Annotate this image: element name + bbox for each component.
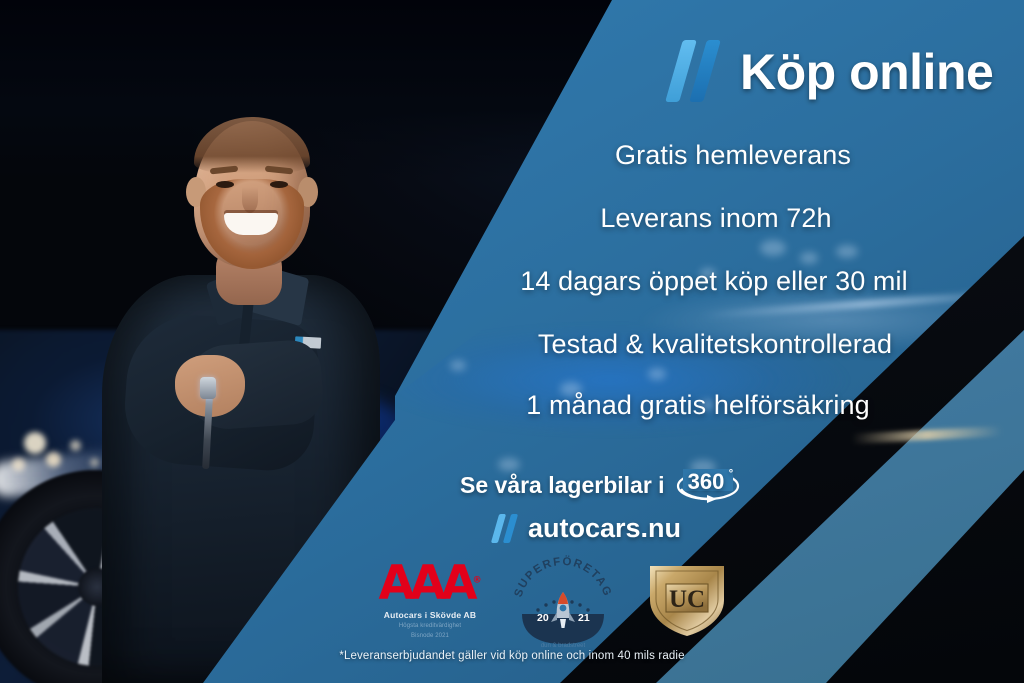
- aaa-company-name: Autocars i Skövde AB: [360, 610, 500, 620]
- page-title: Köp online: [740, 43, 993, 101]
- registered-trademark-icon: ®: [473, 575, 482, 585]
- benefit-item: 14 dagars öppet köp eller 30 mil: [438, 266, 990, 297]
- disclaimer-text: *Leveranserbjudandet gäller vid köp onli…: [0, 650, 1024, 662]
- benefit-item: Testad & kvalitetskontrollerad: [440, 329, 990, 360]
- slash-bar-dark: [503, 514, 518, 543]
- cta-line-2[interactable]: autocars.nu: [494, 513, 760, 544]
- double-slash-icon-small: [494, 514, 522, 544]
- benefit-item: 1 månad gratis helförsäkring: [406, 390, 990, 421]
- aaa-subtitle-line-2: Bisnode 2021: [360, 632, 500, 640]
- cta-text: Se våra lagerbilar i: [460, 472, 665, 499]
- svg-text:dun & bradstreet: dun & bradstreet: [541, 643, 586, 648]
- cta-line-1: Se våra lagerbilar i 360 °: [460, 465, 760, 505]
- benefit-item: Leverans inom 72h: [442, 203, 990, 234]
- cta-block[interactable]: Se våra lagerbilar i 360 °: [460, 465, 760, 544]
- three-sixty-icon: 360 °: [675, 465, 741, 505]
- promo-banner: Köp online Gratis hemleverans Leverans i…: [0, 0, 1024, 683]
- svg-text:UC: UC: [669, 586, 705, 613]
- aaa-credit-rating-logo: AAA® Autocars i Skövde AB Högsta kreditv…: [360, 560, 500, 640]
- benefits-list: Gratis hemleverans Leverans inom 72h 14 …: [430, 140, 990, 421]
- uc-shield-logo: UC: [642, 560, 732, 640]
- aaa-mark: AAA®: [360, 560, 500, 607]
- superforetag-badge-logo: SUPERFÖRETAG: [508, 552, 618, 648]
- certification-logos: AAA® Autocars i Skövde AB Högsta kreditv…: [350, 552, 750, 648]
- headline-row: Köp online: [672, 40, 993, 104]
- svg-text:21: 21: [578, 612, 590, 624]
- benefit-item: Gratis hemleverans: [476, 140, 990, 171]
- website-link[interactable]: autocars.nu: [528, 513, 681, 544]
- double-slash-icon: [672, 40, 724, 104]
- svg-text:°: °: [728, 468, 732, 480]
- svg-text:360: 360: [687, 469, 724, 494]
- aaa-subtitle-line-1: Högsta kreditvärdighet: [360, 622, 500, 630]
- banner-content: Köp online Gratis hemleverans Leverans i…: [0, 0, 1024, 683]
- svg-text:20: 20: [537, 612, 549, 624]
